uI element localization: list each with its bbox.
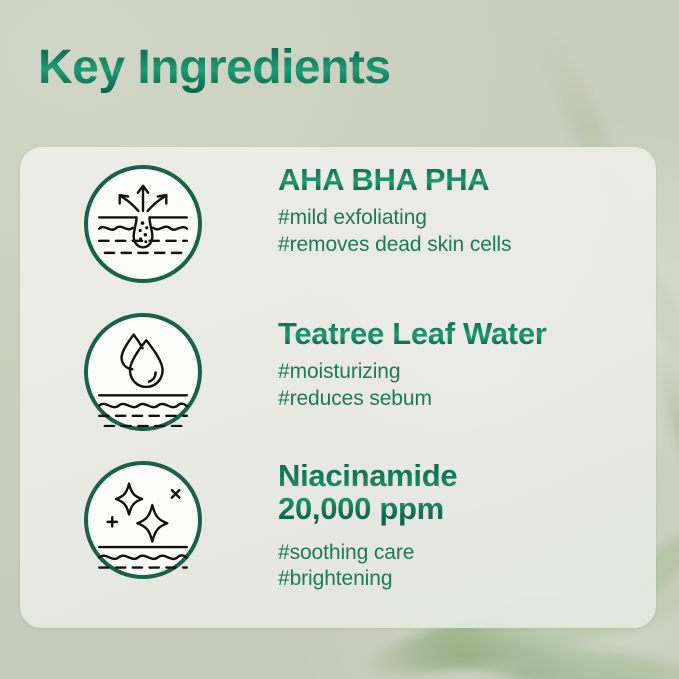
ingredient-text: AHA BHA PHA #mild exfoliating #removes d… (278, 163, 658, 258)
ingredient-row: AHA BHA PHA #mild exfoliating #removes d… (20, 153, 656, 301)
ingredient-heading: Niacinamide 20,000 ppm (278, 459, 658, 526)
ingredient-text: Teatree Leaf Water #moisturizing #reduce… (278, 317, 658, 412)
ingredient-tags: #mild exfoliating #removes dead skin cel… (278, 205, 658, 257)
ingredient-tags: #moisturizing #reduces sebum (278, 359, 658, 411)
ingredient-heading-line2: 20,000 ppm (278, 491, 444, 526)
ingredient-tag: #soothing care (278, 540, 658, 566)
ingredient-tag: #removes dead skin cells (278, 232, 658, 258)
pore-exfoliation-icon (84, 165, 202, 283)
ingredients-list: AHA BHA PHA #mild exfoliating #removes d… (20, 147, 656, 628)
ingredient-heading: AHA BHA PHA (278, 163, 658, 196)
ingredients-card: AHA BHA PHA #mild exfoliating #removes d… (20, 147, 656, 628)
ingredient-text: Niacinamide 20,000 ppm #soothing care #b… (278, 459, 658, 592)
ingredient-row: Niacinamide 20,000 ppm #soothing care #b… (20, 449, 656, 621)
ingredient-heading-line1: Niacinamide (278, 458, 457, 493)
page-title-wrap: Key Ingredients (38, 42, 391, 95)
water-droplet-icon (84, 313, 202, 431)
ingredient-row: Teatree Leaf Water #moisturizing #reduce… (20, 301, 656, 449)
ingredient-tag: #moisturizing (278, 359, 658, 385)
infographic-canvas: Key Ingredients (0, 0, 679, 679)
sparkle-brightening-icon (84, 461, 202, 579)
ingredient-tag: #mild exfoliating (278, 205, 658, 231)
ingredient-tag: #reduces sebum (278, 386, 658, 412)
ingredient-heading: Teatree Leaf Water (278, 317, 658, 350)
page-title: Key Ingredients (38, 42, 391, 95)
ingredient-tag: #brightening (278, 566, 658, 592)
ingredient-tags: #soothing care #brightening (278, 540, 658, 592)
